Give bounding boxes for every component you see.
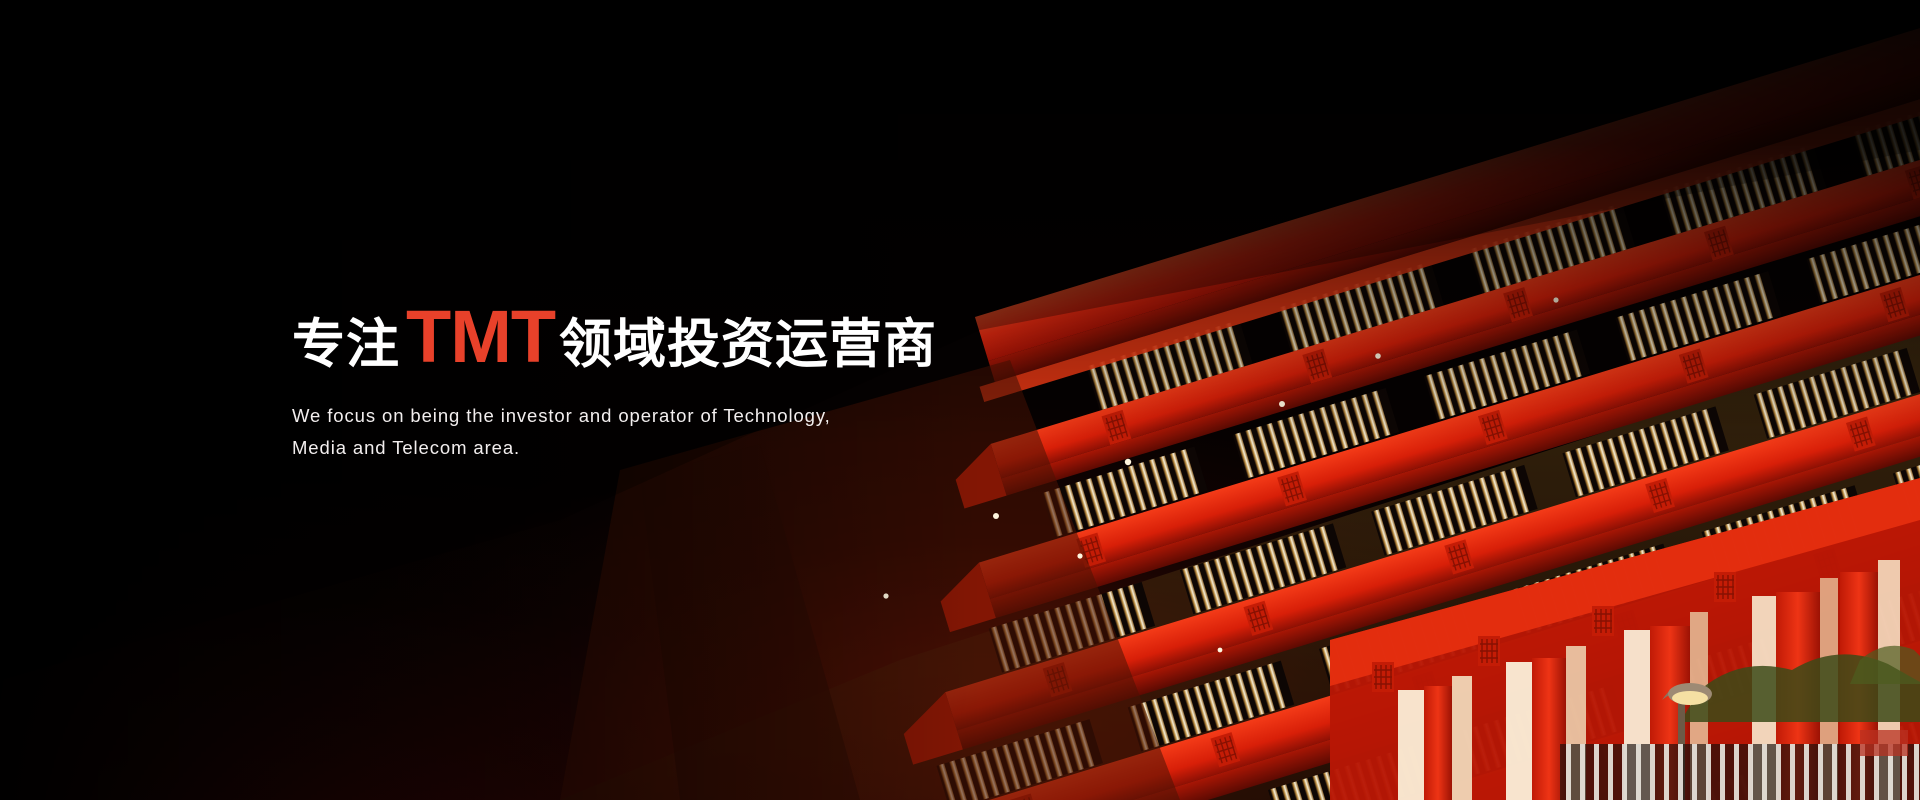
subtitle-line-2: Media and Telecom area. xyxy=(292,432,992,464)
hero-copy: 专注TMT领域投资运营商 We focus on being the inves… xyxy=(292,300,1072,464)
page-title: 专注TMT领域投资运营商 xyxy=(292,300,1072,374)
subtitle-line-1: We focus on being the investor and opera… xyxy=(292,400,992,432)
hero-subtitle: We focus on being the investor and opera… xyxy=(292,400,992,464)
headline-suffix-cn: 领域投资运营商 xyxy=(559,315,937,374)
headline-accent-tmt: TMT xyxy=(400,295,559,378)
headline-prefix-cn: 专注 xyxy=(292,315,400,374)
hero-banner: 专注TMT领域投资运营商 We focus on being the inves… xyxy=(0,0,1920,800)
